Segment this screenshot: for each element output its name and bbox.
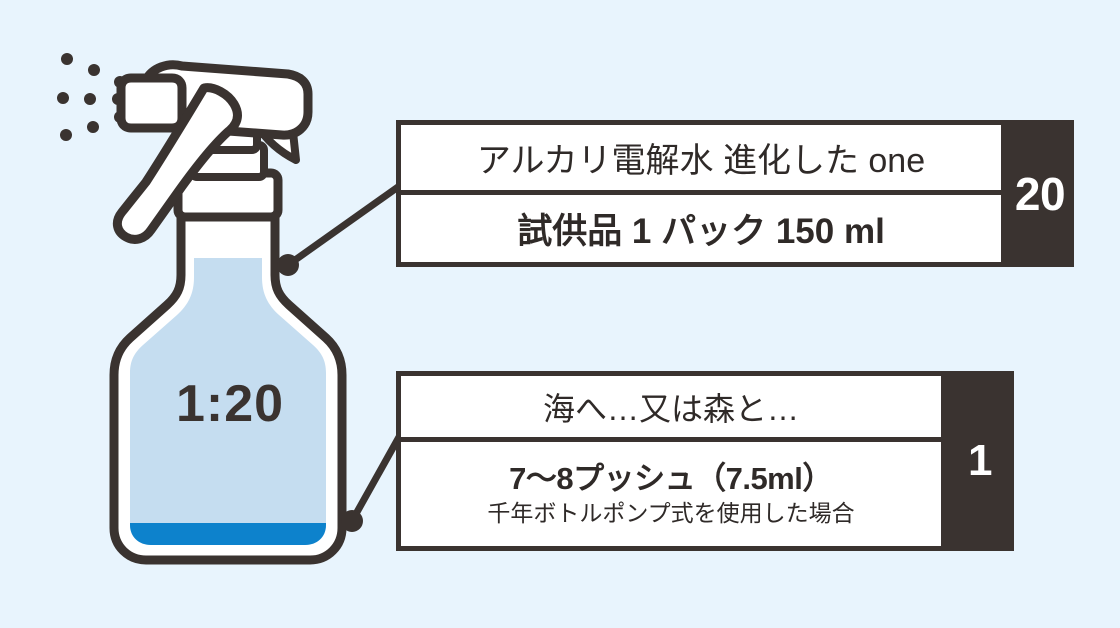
callout-top-ratio-number: 20 bbox=[1006, 120, 1074, 267]
callout-top-row-product-name: アルカリ電解水 進化した one bbox=[401, 125, 1001, 190]
callout-bottom-ratio-number: 1 bbox=[946, 371, 1014, 551]
bottle-ratio-label: 1:20 bbox=[140, 378, 320, 430]
callout-bottom-dosage-main: 7〜8プッシュ（7.5ml） bbox=[509, 461, 833, 497]
leader-line-bottom bbox=[341, 437, 399, 532]
callout-top-rows: アルカリ電解水 進化した one 試供品 1 パック 150 ml bbox=[396, 120, 1006, 267]
leader-line-top bbox=[277, 187, 398, 276]
illustration-canvas: 1:20 アルカリ電解水 進化した one 試供品 1 パック 150 ml 2… bbox=[0, 0, 1120, 628]
callout-bottom: 海へ…又は森と… 7〜8プッシュ（7.5ml） 千年ボトルポンプ式を使用した場合… bbox=[396, 371, 1014, 551]
callout-top-row-sample-spec: 試供品 1 パック 150 ml bbox=[401, 190, 1001, 262]
callout-top: アルカリ電解水 進化した one 試供品 1 パック 150 ml 20 bbox=[396, 120, 1074, 267]
callout-bottom-row-dosage: 7〜8プッシュ（7.5ml） 千年ボトルポンプ式を使用した場合 bbox=[401, 437, 941, 546]
callout-bottom-row-tagline: 海へ…又は森と… bbox=[401, 376, 941, 437]
callout-bottom-rows: 海へ…又は森と… 7〜8プッシュ（7.5ml） 千年ボトルポンプ式を使用した場合 bbox=[396, 371, 946, 551]
callout-bottom-dosage-note: 千年ボトルポンプ式を使用した場合 bbox=[487, 499, 854, 529]
